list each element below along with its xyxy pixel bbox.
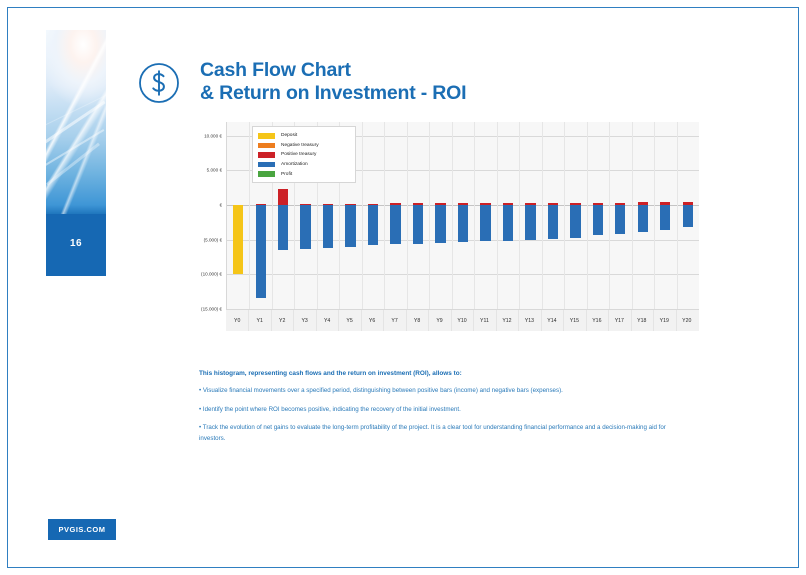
chart-y-tick-label: (5.000) € <box>204 237 222 242</box>
chart-gridline-vertical <box>632 122 633 309</box>
description-bullet: • Identify the point where ROI becomes p… <box>199 405 669 416</box>
chart-bar <box>615 205 625 233</box>
chart-bar <box>638 205 648 232</box>
chart-bar <box>593 205 603 234</box>
description-lead: This histogram, representing cash flows … <box>199 370 669 377</box>
chart-x-separator <box>631 310 632 331</box>
chart-y-tick-label: (15.000) € <box>201 307 222 312</box>
chart-x-tick-label: Y19 <box>660 318 669 324</box>
chart-gridline-vertical <box>474 122 475 309</box>
legend-item[interactable]: Positive treasury <box>258 150 350 160</box>
chart-x-separator <box>653 310 654 331</box>
chart-x-tick-label: Y7 <box>391 318 397 324</box>
chart-bar <box>390 205 400 244</box>
chart-x-separator <box>338 310 339 331</box>
chart-gridline-vertical <box>519 122 520 309</box>
chart-gridline-vertical <box>654 122 655 309</box>
chart-x-tick-label: Y18 <box>637 318 646 324</box>
chart-legend: DepositNegative treasuryPositive treasur… <box>252 126 356 183</box>
footer-brand-label: PVGIS.COM <box>58 525 105 534</box>
description-block: This histogram, representing cash flows … <box>199 370 669 452</box>
description-bullet: • Visualize financial movements over a s… <box>199 386 669 397</box>
chart-bar <box>323 205 333 248</box>
chart-x-separator <box>563 310 564 331</box>
chart-y-tick-label: (10.000) € <box>201 272 222 277</box>
footer-brand-badge[interactable]: PVGIS.COM <box>48 519 116 540</box>
chart-bar <box>458 205 468 242</box>
chart-x-tick-label: Y8 <box>414 318 420 324</box>
chart-x-separator <box>541 310 542 331</box>
chart-gridline-vertical <box>609 122 610 309</box>
chart-y-tick-label: 5.000 € <box>207 168 222 173</box>
chart-gridline-vertical <box>362 122 363 309</box>
chart-x-separator <box>316 310 317 331</box>
legend-item[interactable]: Negative treasury <box>258 141 350 151</box>
chart-bar <box>660 205 670 230</box>
chart-bar <box>480 205 490 241</box>
chart-x-separator <box>608 310 609 331</box>
chart-x-separator <box>518 310 519 331</box>
legend-swatch <box>258 162 275 168</box>
chart-x-separator <box>293 310 294 331</box>
chart-x-tick-label: Y10 <box>457 318 466 324</box>
chart-x-tick-label: Y5 <box>346 318 352 324</box>
chart-bar <box>300 205 310 249</box>
chart-x-tick-label: Y17 <box>615 318 624 324</box>
chart-x-separator <box>586 310 587 331</box>
chart-x-separator <box>473 310 474 331</box>
chart-x-separator <box>383 310 384 331</box>
legend-label: Deposit <box>281 133 297 138</box>
legend-item[interactable]: Amortization <box>258 160 350 170</box>
cash-flow-chart: 10.000 €5.000 €€(5.000) €(10.000) €(15.0… <box>179 122 699 332</box>
chart-x-tick-label: Y1 <box>257 318 263 324</box>
chart-bar <box>570 205 580 238</box>
chart-x-tick-label: Y11 <box>480 318 489 324</box>
chart-x-separator <box>406 310 407 331</box>
chart-bar <box>548 205 558 239</box>
sidebar-decorative-image <box>46 30 106 214</box>
chart-x-separator <box>428 310 429 331</box>
title-line-2: & Return on Investment - ROI <box>200 82 466 105</box>
chart-x-tick-label: Y4 <box>324 318 330 324</box>
chart-gridline-vertical <box>249 122 250 309</box>
chart-gridline-vertical <box>429 122 430 309</box>
chart-bar <box>503 205 513 241</box>
chart-x-separator <box>248 310 249 331</box>
page-title: Cash Flow Chart & Return on Investment -… <box>200 59 466 105</box>
description-bullet: • Track the evolution of net gains to ev… <box>199 423 669 444</box>
chart-gridline-vertical <box>677 122 678 309</box>
chart-gridline-vertical <box>542 122 543 309</box>
slide-page: 16 PVGIS.COM Cash Flow Chart & Return on… <box>7 7 799 568</box>
chart-x-tick-label: Y12 <box>502 318 511 324</box>
legend-label: Positive treasury <box>281 152 316 157</box>
chart-bar <box>413 205 423 243</box>
chart-gridline-vertical <box>497 122 498 309</box>
chart-bar <box>256 205 266 298</box>
chart-x-tick-label: Y3 <box>301 318 307 324</box>
chart-gridline-vertical <box>587 122 588 309</box>
legend-label: Profit <box>281 172 292 177</box>
chart-bar <box>345 205 355 247</box>
chart-bar <box>278 189 288 205</box>
chart-gridline-vertical <box>564 122 565 309</box>
chart-x-separator <box>451 310 452 331</box>
chart-x-tick-label: Y13 <box>525 318 534 324</box>
chart-x-tick-label: Y20 <box>682 318 691 324</box>
chart-x-tick-label: Y16 <box>592 318 601 324</box>
legend-swatch <box>258 152 275 158</box>
chart-y-tick-label: 10.000 € <box>204 133 222 138</box>
chart-gridline-vertical <box>384 122 385 309</box>
chart-x-separator <box>496 310 497 331</box>
chart-y-tick-label: € <box>219 203 222 208</box>
chart-bar <box>683 205 693 227</box>
chart-x-tick-label: Y0 <box>234 318 240 324</box>
title-line-1: Cash Flow Chart <box>200 59 466 82</box>
chart-bar <box>233 205 243 274</box>
chart-x-axis: Y0Y1Y2Y3Y4Y5Y6Y7Y8Y9Y10Y11Y12Y13Y14Y15Y1… <box>226 309 699 331</box>
chart-bar <box>435 205 445 242</box>
chart-gridline <box>227 274 699 275</box>
chart-bar <box>278 205 288 250</box>
chart-x-tick-label: Y9 <box>436 318 442 324</box>
legend-item[interactable]: Deposit <box>258 131 350 141</box>
page-number-box: 16 <box>46 214 106 276</box>
page-number: 16 <box>46 238 106 249</box>
legend-label: Amortization <box>281 162 308 167</box>
chart-bar <box>368 205 378 244</box>
chart-x-tick-label: Y15 <box>570 318 579 324</box>
chart-x-tick-label: Y6 <box>369 318 375 324</box>
legend-swatch <box>258 143 275 149</box>
chart-gridline-vertical <box>452 122 453 309</box>
chart-x-separator <box>271 310 272 331</box>
legend-swatch <box>258 133 275 139</box>
chart-x-separator <box>361 310 362 331</box>
dollar-circle-icon <box>138 62 180 104</box>
legend-swatch <box>258 171 275 177</box>
chart-x-tick-label: Y2 <box>279 318 285 324</box>
chart-x-tick-label: Y14 <box>547 318 556 324</box>
chart-x-separator <box>676 310 677 331</box>
chart-bar <box>525 205 535 240</box>
legend-label: Negative treasury <box>281 143 319 148</box>
chart-gridline-vertical <box>407 122 408 309</box>
legend-item[interactable]: Profit <box>258 169 350 179</box>
